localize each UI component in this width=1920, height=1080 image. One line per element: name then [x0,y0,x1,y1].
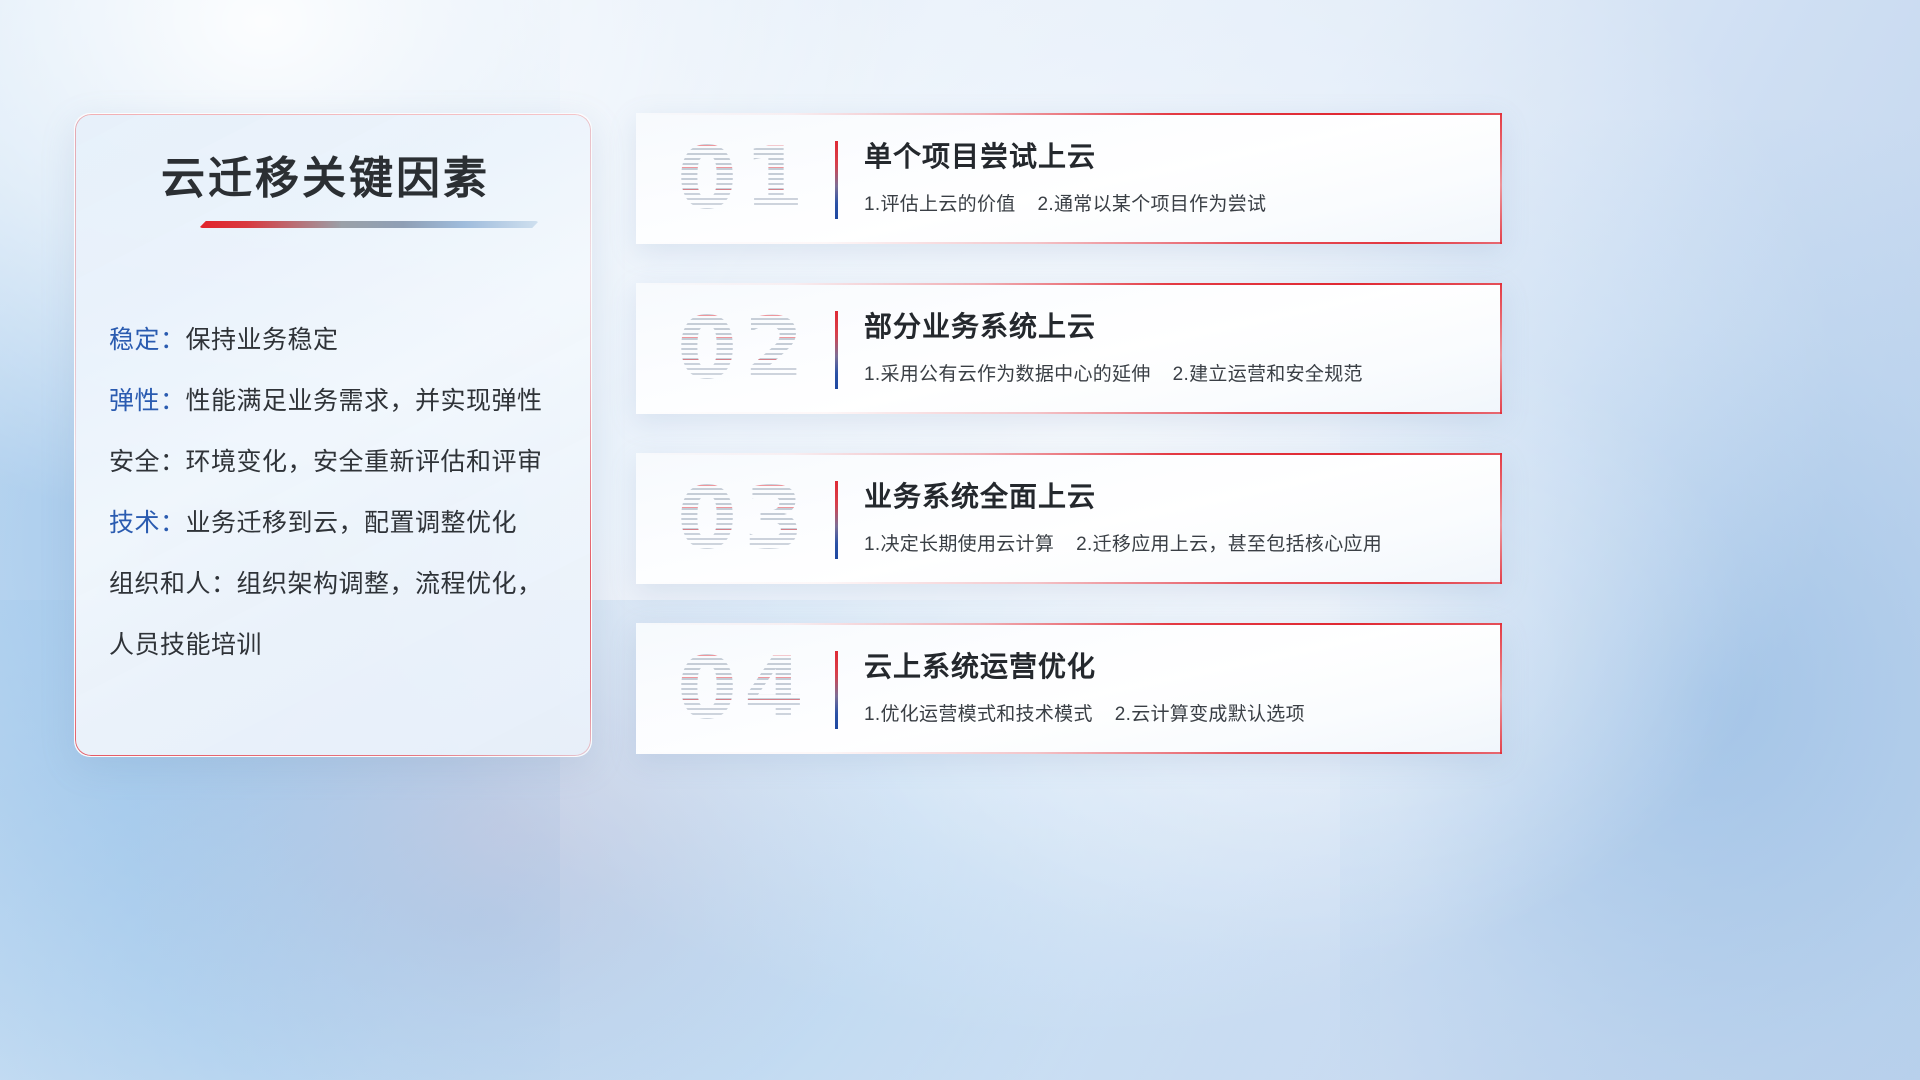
key-factor-label: 技术： [109,509,186,537]
card-right-accent-line [1500,453,1502,584]
key-factor-label: 稳定： [109,326,186,354]
card-right-accent-line [1500,623,1502,754]
stage-accent-bar [835,481,838,559]
stage-description: 1.评估上云的价值2.通常以某个项目作为尝试 [864,189,1266,216]
stage-title: 云上系统运营优化 [864,645,1096,685]
key-factor-line: 技术：业务迁移到云，配置调整优化 [109,493,567,554]
description-item: 2.建立运营和安全规范 [1173,364,1363,385]
key-factor-text: 性能满足业务需求，并实现弹性 [186,387,543,415]
description-item: 1.评估上云的价值 [864,194,1016,215]
card-top-accent-line [636,283,1502,285]
key-factor-label: 安全： [109,448,186,476]
card-top-accent-line [636,623,1502,625]
key-factor-line: 安全：环境变化，安全重新评估和评审 [109,432,567,493]
key-factor-text: 保持业务稳定 [186,326,339,354]
stage-number-red-overlay: 01 [668,123,820,235]
stage-accent-bar [835,651,838,729]
card-right-accent-line [1500,283,1502,414]
card-top-accent-line [636,113,1502,115]
stage-card[interactable]: 0202部分业务系统上云1.采用公有云作为数据中心的延伸2.建立运营和安全规范 [636,283,1502,414]
card-bottom-accent-line [636,412,1502,414]
stage-card[interactable]: 0404云上系统运营优化1.优化运营模式和技术模式2.云计算变成默认选项 [636,623,1502,754]
key-factor-text: 业务迁移到云，配置调整优化 [186,509,518,537]
stage-number-red-overlay: 03 [668,463,820,575]
key-factors-list: 稳定：保持业务稳定弹性：性能满足业务需求，并实现弹性安全：环境变化，安全重新评估… [109,310,567,676]
card-right-accent-line [1500,113,1502,244]
card-top-accent-line [636,453,1502,455]
key-factors-panel: 云迁移关键因素 稳定：保持业务稳定弹性：性能满足业务需求，并实现弹性安全：环境变… [74,113,592,757]
key-factor-label: 组织和人： [109,570,237,598]
stage-title: 部分业务系统上云 [864,305,1096,345]
card-bottom-accent-line [636,242,1502,244]
stage-card[interactable]: 0101单个项目尝试上云1.评估上云的价值2.通常以某个项目作为尝试 [636,113,1502,244]
stage-description: 1.优化运营模式和技术模式2.云计算变成默认选项 [864,699,1305,726]
title-underline-accent [199,221,539,228]
key-factor-line: 人员技能培训 [109,615,567,676]
description-item: 2.通常以某个项目作为尝试 [1038,194,1267,215]
stage-number-red-overlay: 04 [668,633,820,745]
description-item: 1.优化运营模式和技术模式 [864,704,1093,725]
card-bottom-accent-line [636,582,1502,584]
stage-title: 业务系统全面上云 [864,475,1096,515]
key-factor-label: 弹性： [109,387,186,415]
card-bottom-accent-line [636,752,1502,754]
stage-description: 1.采用公有云作为数据中心的延伸2.建立运营和安全规范 [864,359,1363,386]
stage-number-red-overlay: 02 [668,293,820,405]
panel-title: 云迁移关键因素 [161,142,490,206]
description-item: 1.采用公有云作为数据中心的延伸 [864,364,1151,385]
stage-accent-bar [835,141,838,219]
stage-description: 1.决定长期使用云计算2.迁移应用上云，甚至包括核心应用 [864,529,1382,556]
cloud-migration-stages: 0101单个项目尝试上云1.评估上云的价值2.通常以某个项目作为尝试0202部分… [636,113,1502,793]
key-factor-text: 人员技能培训 [109,631,262,659]
description-item: 2.云计算变成默认选项 [1115,704,1305,725]
key-factor-line: 组织和人：组织架构调整，流程优化， [109,554,567,615]
stage-accent-bar [835,311,838,389]
description-item: 2.迁移应用上云，甚至包括核心应用 [1076,534,1382,555]
stage-title: 单个项目尝试上云 [864,135,1096,175]
key-factor-line: 弹性：性能满足业务需求，并实现弹性 [109,371,567,432]
stage-card[interactable]: 0303业务系统全面上云1.决定长期使用云计算2.迁移应用上云，甚至包括核心应用 [636,453,1502,584]
key-factor-text: 环境变化，安全重新评估和评审 [186,448,543,476]
key-factor-line: 稳定：保持业务稳定 [109,310,567,371]
description-item: 1.决定长期使用云计算 [864,534,1054,555]
key-factor-text: 组织架构调整，流程优化， [237,570,543,598]
